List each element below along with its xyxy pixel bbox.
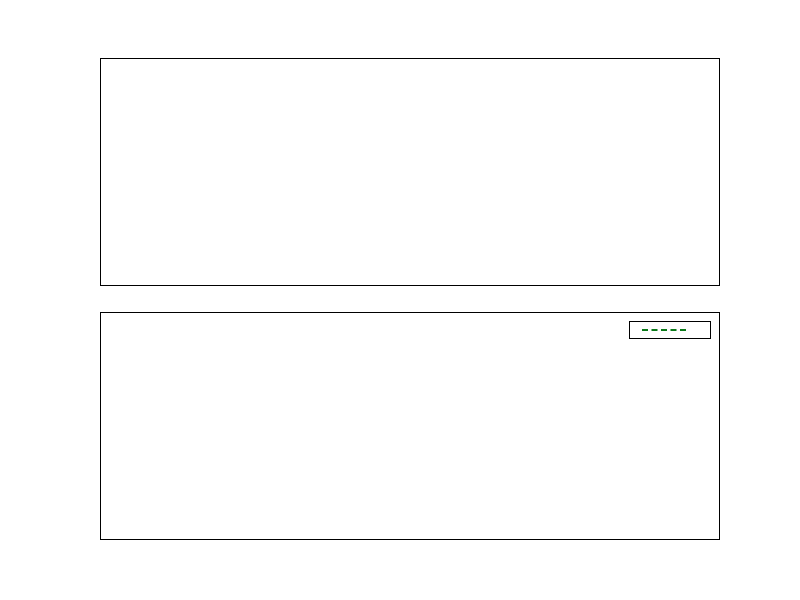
bottom-plot-area [101,313,719,539]
figure [0,0,800,600]
top-plot-area [101,59,719,285]
mag-limit-legend-swatch [642,329,686,331]
cumulative-curve-svg [101,313,719,539]
legend [629,321,711,339]
bottom-axes [100,312,720,540]
top-axes [100,58,720,286]
